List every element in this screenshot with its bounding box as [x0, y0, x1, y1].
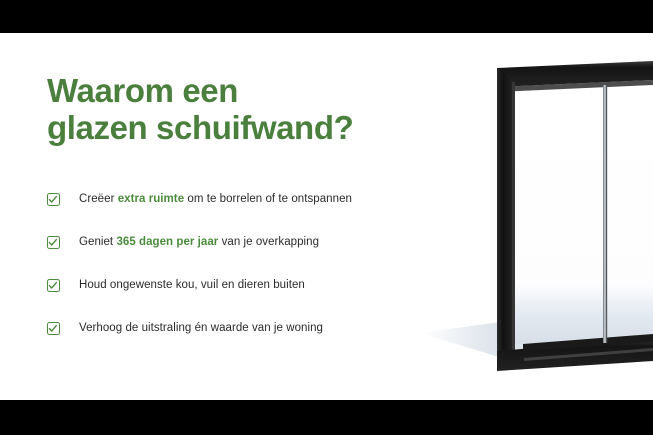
list-item: Creëer extra ruimte om te borrelen of te… — [47, 192, 467, 210]
list-item-label: Houd ongewenste kou, vuil en dieren buit… — [79, 278, 305, 292]
headline-line-2: glazen schuifwand? — [47, 109, 467, 146]
bullet-text-pre: Geniet — [79, 236, 116, 248]
list-item-label: Verhoog de uitstraling én waarde van je … — [79, 321, 323, 335]
bullet-text-pre: Houd ongewenste kou, vuil en dieren buit… — [79, 279, 305, 291]
bullet-text-emphasis: 365 dagen per jaar — [116, 236, 218, 248]
checkbox-check-icon — [47, 193, 60, 206]
checkbox-check-icon — [47, 322, 60, 335]
benefits-list: Creëer extra ruimte om te borrelen of te… — [47, 192, 467, 339]
list-item: Verhoog de uitstraling én waarde van je … — [47, 321, 467, 339]
checkbox-check-icon — [47, 279, 60, 292]
letterbox-bar-bottom — [0, 400, 653, 435]
bullet-text-emphasis: extra ruimte — [118, 193, 184, 205]
list-item-label: Geniet 365 dagen per jaar van je overkap… — [79, 235, 319, 249]
letterbox-bar-top — [0, 0, 653, 33]
bullet-text-pre: Creëer — [79, 193, 118, 205]
slide-canvas: Waarom een glazen schuifwand? Creëer ext… — [0, 0, 653, 435]
bullet-text-post: om te borrelen of te ontspannen — [184, 193, 352, 205]
checkbox-check-icon — [47, 236, 60, 249]
list-item-label: Creëer extra ruimte om te borrelen of te… — [79, 192, 352, 206]
headline-line-1: Waarom een — [47, 72, 467, 109]
list-item: Houd ongewenste kou, vuil en dieren buit… — [47, 278, 467, 296]
page-title: Waarom een glazen schuifwand? — [47, 72, 467, 146]
text-content-column: Waarom een glazen schuifwand? Creëer ext… — [47, 72, 467, 146]
list-item: Geniet 365 dagen per jaar van je overkap… — [47, 235, 467, 253]
bullet-text-pre: Verhoog de uitstraling én waarde van je … — [79, 322, 323, 334]
bullet-text-post: van je overkapping — [218, 236, 319, 248]
